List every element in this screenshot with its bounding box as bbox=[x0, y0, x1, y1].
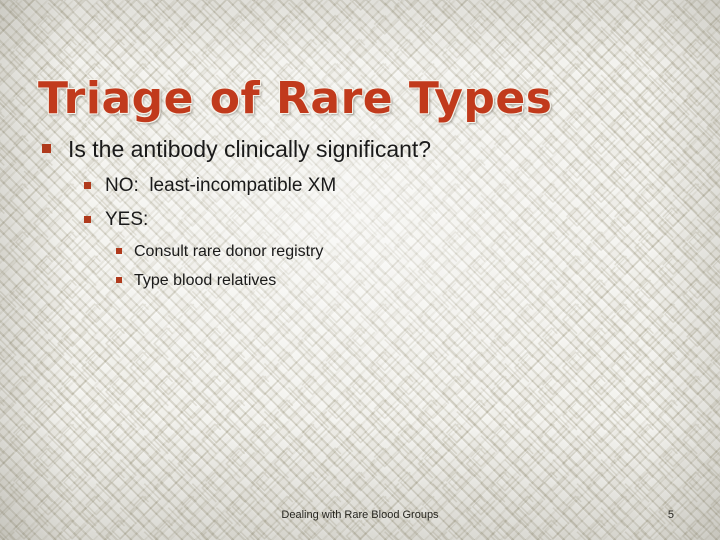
footer-title: Dealing with Rare Blood Groups bbox=[0, 509, 720, 521]
bullet-text: Is the antibody clinically significant? bbox=[68, 135, 431, 163]
bullet-item-level3: Type blood relatives bbox=[116, 270, 276, 291]
bullet-text: Type blood relatives bbox=[134, 270, 276, 291]
page-title: Triage of Rare Types bbox=[38, 73, 552, 124]
page-number: 5 bbox=[668, 509, 674, 521]
slide: Triage of Rare Types Is the antibody cli… bbox=[0, 0, 720, 540]
bullet-marker-icon bbox=[116, 248, 122, 254]
bullet-text: YES: bbox=[105, 208, 148, 232]
bullet-item-level2: YES: bbox=[84, 208, 148, 232]
bullet-item-level1: Is the antibody clinically significant? bbox=[42, 135, 431, 163]
bullet-item-level3: Consult rare donor registry bbox=[116, 241, 323, 262]
bullet-text: Consult rare donor registry bbox=[134, 241, 323, 262]
bullet-marker-icon bbox=[84, 216, 91, 223]
bullet-item-level2: NO: least-incompatible XM bbox=[84, 174, 336, 198]
bullet-marker-icon bbox=[84, 182, 91, 189]
bullet-marker-icon bbox=[116, 277, 122, 283]
bullet-marker-icon bbox=[42, 144, 51, 153]
bullet-text: NO: least-incompatible XM bbox=[105, 174, 336, 198]
